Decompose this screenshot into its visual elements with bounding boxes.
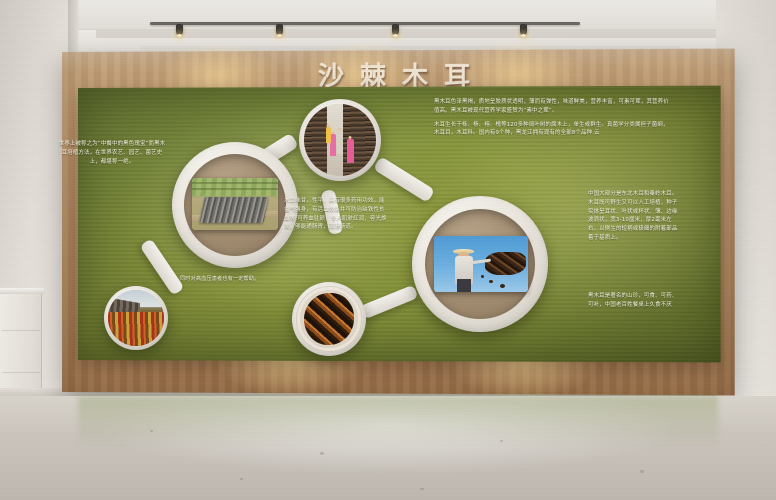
- farm-strip-2: [192, 188, 278, 190]
- photo-farm[interactable]: [192, 178, 278, 230]
- text-right-top: 黑木耳色泽黑褐，质地呈胶质状透明，薄而有弹性，味道鲜美，营养丰富，可素可荤，其营…: [434, 98, 672, 143]
- photo-frame-berry[interactable]: [104, 286, 168, 350]
- photo-frame-racks[interactable]: [299, 99, 381, 181]
- text-right-middle-body: 中国大部分是东北木耳和秦岭木耳。木耳既可野生又可以人工培植，种子实体呈耳状、叶状…: [588, 190, 678, 243]
- floor-speck-3: [500, 440, 503, 442]
- counter-seam-2: [2, 372, 40, 373]
- photo-racks[interactable]: [304, 104, 376, 176]
- person-2: [337, 131, 343, 154]
- harvest-mushroom-pour: [485, 252, 526, 276]
- text-middle-body: 木耳味甘，性平，具有很多药用功效。能益气强身，有活血效能并可防治缺铁性贫血等;可…: [284, 197, 388, 232]
- photo-berry[interactable]: [108, 290, 164, 346]
- person-3: [347, 139, 353, 163]
- falling-mushroom-1: [489, 280, 493, 283]
- ceiling-slot-1: [96, 30, 716, 38]
- ceiling-band: [0, 0, 776, 30]
- text-right-bottom-body: 黑木耳是著名的山珍，可食、可药、可补，中国老百姓餐桌上久食不厌: [588, 292, 680, 310]
- spotlight-4: [520, 24, 527, 35]
- rack-bed-left: [304, 104, 327, 176]
- floor-speck-1: [150, 430, 153, 432]
- floor-speck-4: [640, 470, 644, 473]
- farm-greenhouse-rows: [200, 197, 269, 223]
- berry-crop-rows: [108, 312, 164, 346]
- photo-frame-farm[interactable]: [172, 142, 298, 268]
- photo-bowl-art: [296, 286, 362, 352]
- screenshot-root: 沙 棘 木 耳: [0, 0, 776, 500]
- farmer-pants: [457, 279, 471, 292]
- text-left-top: 世界上被称之为“中餐中的黑色瑰宝”而黑木耳培植方法，在世界农艺、园艺、菌艺史上，…: [58, 140, 166, 171]
- ceiling-light-track: [150, 22, 580, 25]
- text-right-top-p1: 黑木耳色泽黑褐，质地呈胶质状透明，薄而有弹性，味道鲜美，营养丰富，可素可荤，其营…: [434, 98, 672, 116]
- floor-speck-5: [240, 478, 243, 480]
- falling-mushroom-3: [481, 275, 484, 278]
- photo-harvest[interactable]: [434, 236, 528, 292]
- floor-speck-2: [320, 452, 324, 455]
- floor-green-reflection: [78, 396, 718, 448]
- text-right-bottom: 黑木耳是著名的山珍，可食、可药、可补，中国老百姓餐桌上久食不厌: [588, 292, 680, 315]
- room-interior: 沙 棘 木 耳: [0, 0, 776, 500]
- text-middle: 木耳味甘，性平，具有很多药用功效。能益气强身，有活血效能并可防治缺铁性贫血等;可…: [284, 197, 388, 237]
- farm-fields: [192, 178, 278, 196]
- photo-berry-art: [108, 290, 164, 346]
- bowl-rim: [297, 287, 360, 350]
- farm-strip-1: [192, 182, 278, 184]
- text-left-bottom-body: 同时对高血压患者也有一定帮助。: [180, 275, 284, 283]
- photo-frame-harvest[interactable]: [412, 196, 548, 332]
- text-left-top-body: 世界上被称之为“中餐中的黑色瑰宝”而黑木耳培植方法，在世界农艺、园艺、菌艺史上，…: [58, 140, 166, 166]
- spotlight-3: [392, 24, 399, 35]
- text-left-bottom: 同时对高血压患者也有一定帮助。: [180, 275, 284, 288]
- person-4: [326, 127, 331, 143]
- falling-mushroom-2: [500, 284, 505, 288]
- counter-top-surface: [0, 288, 44, 294]
- text-right-middle: 中国大部分是东北木耳和秦岭木耳。木耳既可野生又可以人工培植，种子实体呈耳状、叶状…: [588, 190, 678, 248]
- photo-frame-bowl[interactable]: [292, 282, 366, 356]
- photo-bowl[interactable]: [296, 286, 362, 352]
- photo-farm-art: [192, 178, 278, 230]
- spotlight-2: [276, 24, 283, 35]
- spotlight-1: [176, 24, 183, 35]
- person-1: [330, 134, 336, 156]
- floor-speck-6: [420, 488, 424, 490]
- photo-harvest-art: [434, 236, 528, 292]
- photo-racks-art: [304, 104, 376, 176]
- counter-seam-1: [2, 330, 40, 331]
- text-right-top-p2: 木耳生长于栎、杨、榕、槐等120多种阔叶树的腐木上，单生或群生。真菌学分类属担子…: [434, 121, 672, 139]
